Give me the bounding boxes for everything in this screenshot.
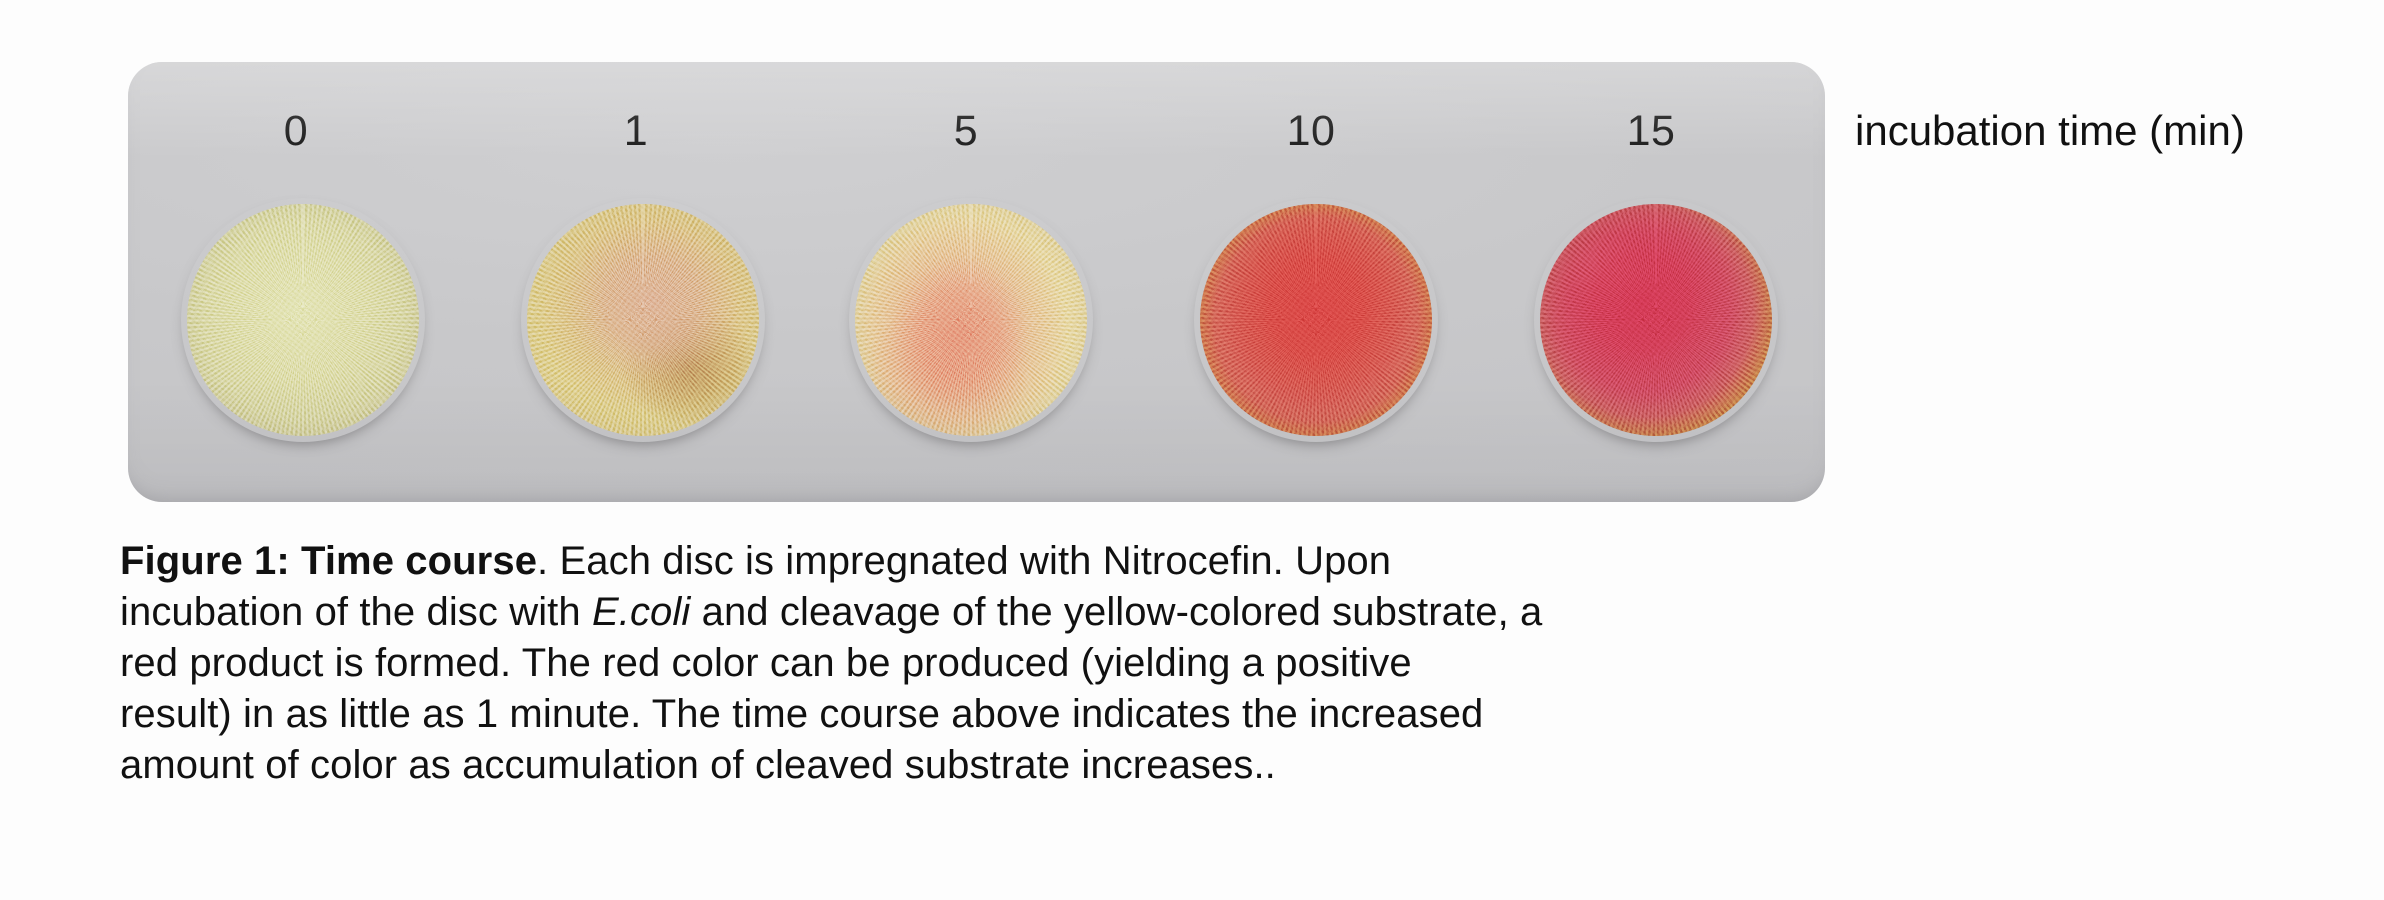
tick-label-0: 0	[284, 110, 308, 153]
disc-0min	[187, 204, 419, 436]
disc-fiber-texture	[1540, 204, 1772, 436]
disc-10min	[1200, 204, 1432, 436]
disc-fiber-texture	[527, 204, 759, 436]
caption-text: incubation of the disc with	[120, 590, 592, 634]
caption-line-5: amount of color as accumulation of cleav…	[120, 740, 2150, 791]
caption-line-4: result) in as little as 1 minute. The ti…	[120, 689, 2150, 740]
tick-label-15: 15	[1627, 110, 1676, 153]
tick-label-10: 10	[1287, 110, 1336, 153]
photo-panel: 0 1 5 10 15	[128, 62, 1825, 502]
figure-caption: Figure 1: Time course. Each disc is impr…	[120, 536, 2150, 791]
tick-label-5: 5	[954, 110, 978, 153]
caption-line-2: incubation of the disc with E.coli and c…	[120, 587, 2150, 638]
caption-species-name: E.coli	[592, 590, 690, 634]
caption-text: . Each disc is impregnated with Nitrocef…	[537, 539, 1391, 583]
axis-label-incubation-time: incubation time (min)	[1855, 110, 2245, 152]
disc-fiber-texture	[855, 204, 1087, 436]
caption-figure-title: Figure 1: Time course	[120, 539, 537, 583]
caption-text: and cleavage of the yellow-colored subst…	[690, 590, 1542, 634]
figure-container: 0 1 5 10 15	[0, 0, 2384, 900]
disc-5min	[855, 204, 1087, 436]
tick-label-1: 1	[624, 110, 648, 153]
caption-line-3: red product is formed. The red color can…	[120, 638, 2150, 689]
disc-fiber-texture	[1200, 204, 1432, 436]
disc-15min	[1540, 204, 1772, 436]
disc-1min	[527, 204, 759, 436]
disc-fiber-texture	[187, 204, 419, 436]
caption-line-1: Figure 1: Time course. Each disc is impr…	[120, 536, 2150, 587]
